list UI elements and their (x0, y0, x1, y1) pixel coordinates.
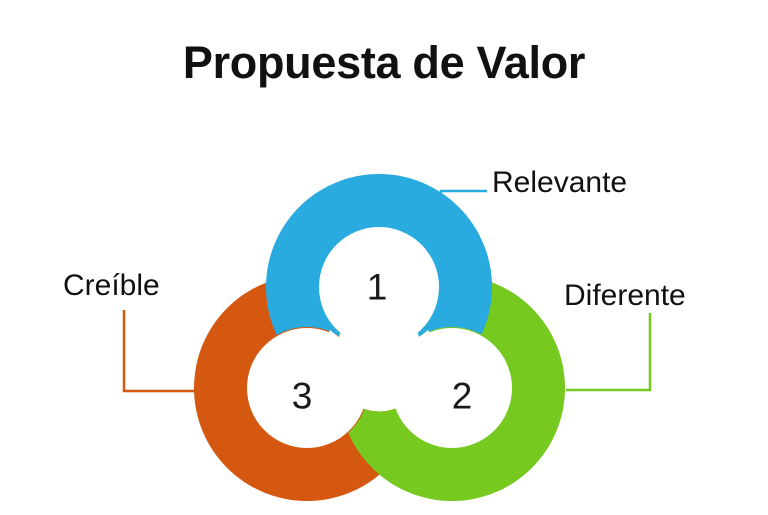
value-proposition-diagram: 1 2 3 (0, 0, 768, 515)
ring-number-2: 2 (452, 376, 473, 417)
ring-number-3: 3 (292, 376, 313, 417)
connector-creible (124, 310, 196, 391)
label-relevante: Relevante (492, 168, 627, 198)
connector-diferente (566, 313, 650, 390)
slide-canvas: Propuesta de Valor (0, 0, 768, 515)
label-creible: Creíble (63, 271, 160, 301)
ring-number-1: 1 (367, 267, 388, 308)
label-diferente: Diferente (564, 281, 686, 311)
